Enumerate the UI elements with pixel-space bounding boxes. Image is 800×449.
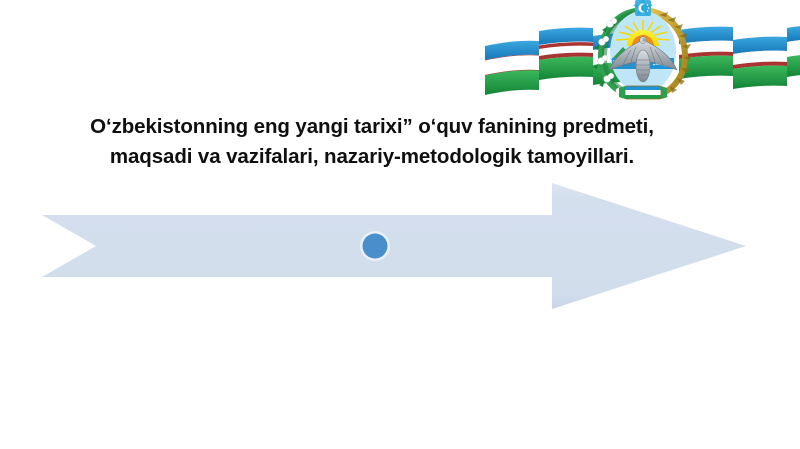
uzbekistan-state-emblem	[483, 0, 800, 110]
title-line-2: maqsadi va vazifalari, nazariy-metodolog…	[36, 142, 708, 172]
eight-pointed-star-icon	[633, 0, 653, 16]
right-pointing-pentagon-arrow	[40, 176, 752, 316]
blue-circle-marker[interactable]	[359, 230, 391, 262]
arrow-shape	[42, 183, 746, 309]
flag-scroll-icon	[619, 86, 667, 99]
slide-canvas: Oʻzbekistonning eng yangi tarixi” oʻquv …	[0, 0, 800, 449]
title-line-1: Oʻzbekistonning eng yangi tarixi” oʻquv …	[36, 112, 708, 142]
page-title: Oʻzbekistonning eng yangi tarixi” oʻquv …	[36, 112, 708, 172]
circle-fill	[363, 234, 388, 259]
slide-empty-lower-area	[0, 316, 800, 449]
